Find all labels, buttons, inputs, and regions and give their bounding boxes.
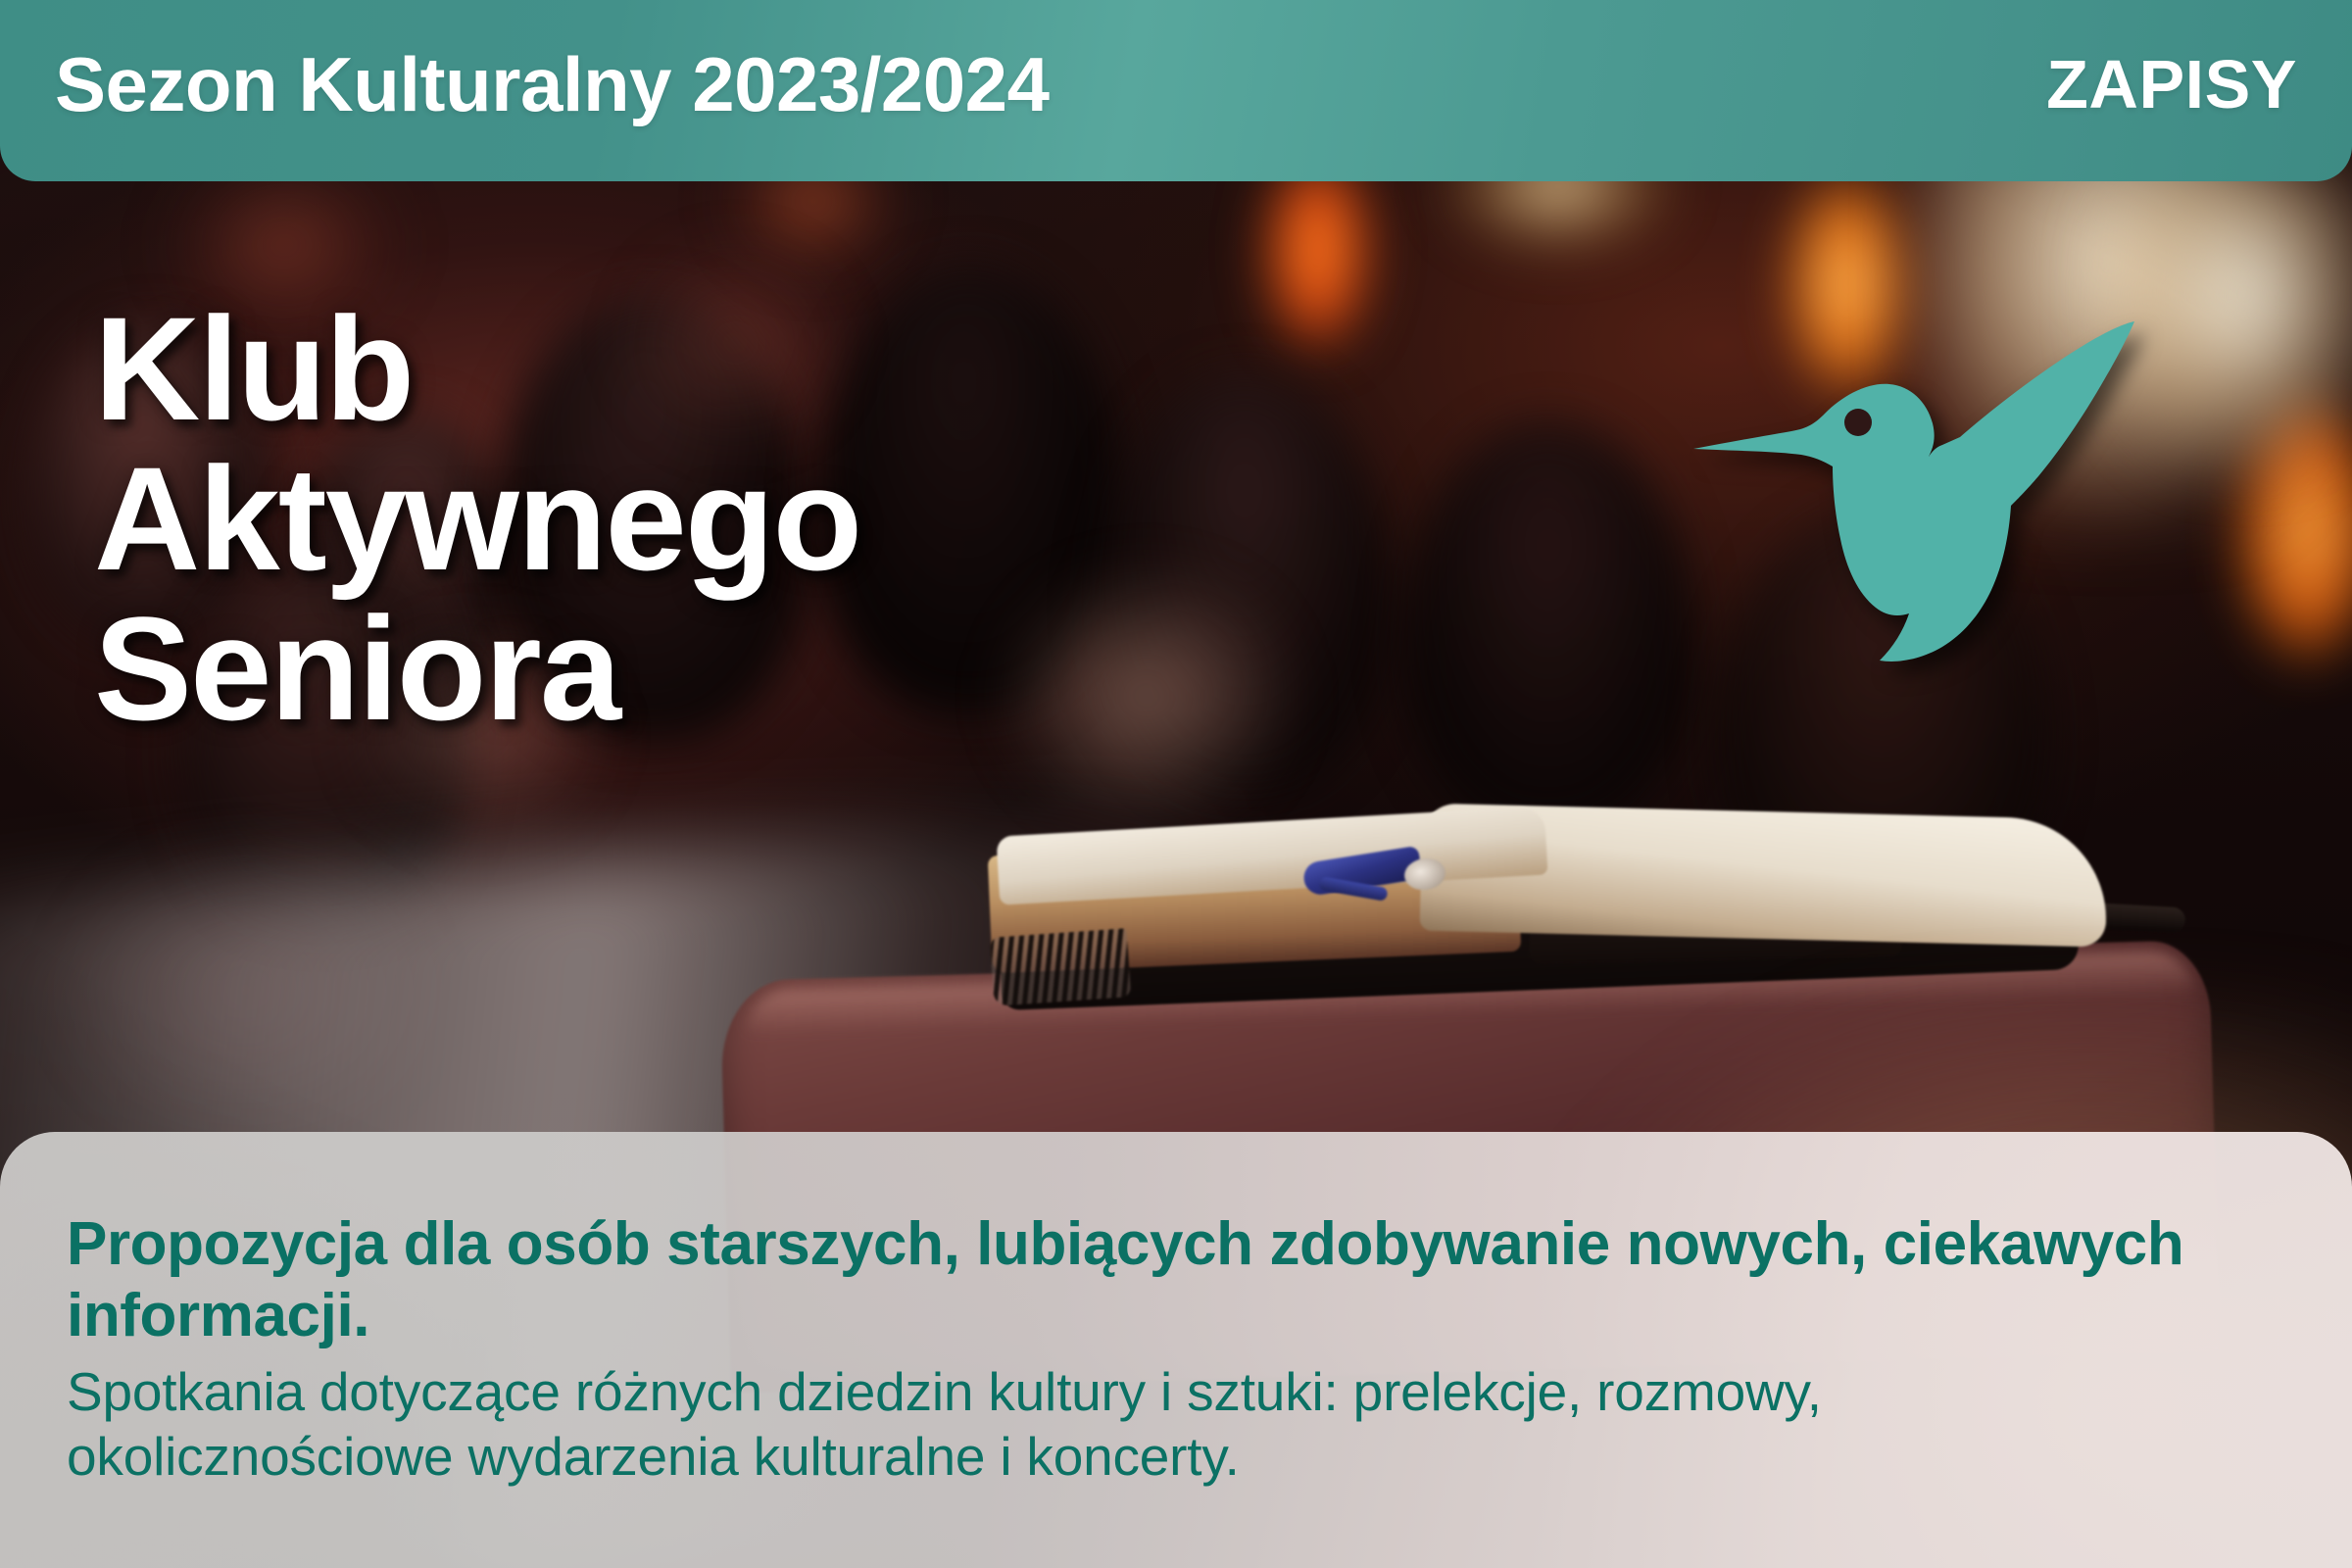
hummingbird-body-path [1693,321,2134,661]
hummingbird-icon [1666,294,2156,686]
title-line-1: Klub [94,294,1290,444]
season-title: Sezon Kulturalny 2023/2024 [55,46,1049,122]
info-body-line-2: okolicznościowe wydarzenia kulturalne i … [67,1424,2234,1489]
info-body-line-1: Spotkania dotyczące różnych dziedzin kul… [67,1359,2234,1424]
hummingbird-eye [1844,409,1872,436]
info-panel: Propozycja dla osób starszych, lubiących… [0,1132,2352,1568]
title-line-2: Aktywnego [94,444,1290,594]
page-title: Klub Aktywnego Seniora [94,294,1290,744]
title-line-3: Seniora [94,594,1290,744]
notebook-spiral-binding [990,928,1132,1006]
signup-button[interactable]: ZAPISY [2046,50,2297,119]
info-lead-text: Propozycja dla osób starszych, lubiących… [67,1208,2234,1351]
poster-canvas: Sezon Kulturalny 2023/2024 ZAPISY Klub A… [0,0,2352,1568]
header-bar: Sezon Kulturalny 2023/2024 ZAPISY [0,0,2352,181]
